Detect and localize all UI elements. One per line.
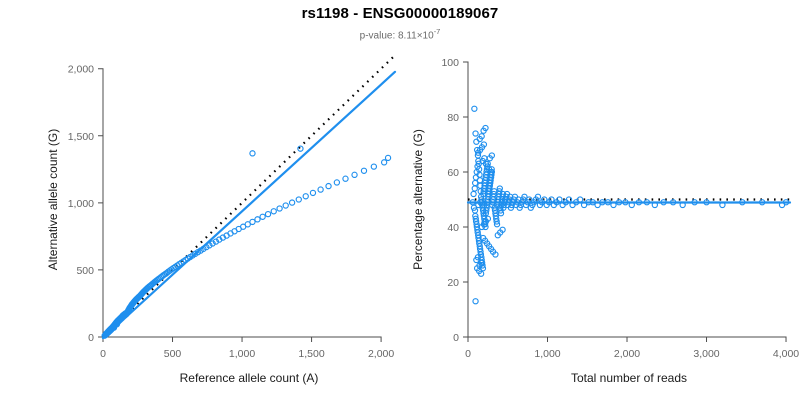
scatter-point xyxy=(471,191,476,196)
scatter-panel-percentage: 02040608010001,0002,0003,0004,000Total n… xyxy=(410,0,800,400)
scatter-point xyxy=(277,206,282,211)
x-tick-label: 1,500 xyxy=(298,348,324,360)
y-axis-line xyxy=(463,62,468,337)
x-tick-label: 0 xyxy=(100,348,106,360)
allele-count-scatter-svg: 05001,0001,5002,00005001,0001,5002,000Re… xyxy=(0,0,410,400)
x-tick-label: 1,000 xyxy=(534,348,560,360)
scatter-point xyxy=(326,183,331,188)
scatter-point xyxy=(473,131,478,136)
scatter-point xyxy=(260,214,265,219)
y-tick-label: 0 xyxy=(88,332,94,344)
scatter-point xyxy=(303,194,308,199)
scatter-point xyxy=(265,212,270,217)
y-tick-label: 0 xyxy=(453,332,459,344)
y-tick-label: 20 xyxy=(447,277,459,289)
scatter-point xyxy=(290,200,295,205)
x-tick-label: 1,000 xyxy=(229,348,255,360)
y-tick-label: 60 xyxy=(447,167,459,179)
scatter-point xyxy=(298,146,303,151)
x-tick-label: 3,000 xyxy=(693,348,719,360)
scatter-point xyxy=(472,186,477,191)
scatter-point xyxy=(477,178,482,183)
scatter-point xyxy=(334,180,339,185)
scatter-point xyxy=(343,176,348,181)
scatter-point xyxy=(271,209,276,214)
regression-fit-line xyxy=(103,72,395,338)
y-tick-label: 100 xyxy=(441,57,459,69)
percentage-scatter-svg: 02040608010001,0002,0003,0004,000Total n… xyxy=(410,0,800,400)
scatter-points xyxy=(102,146,391,338)
y-tick-label: 500 xyxy=(76,265,94,277)
scatter-point xyxy=(361,168,366,173)
x-tick-label: 2,000 xyxy=(614,348,640,360)
scatter-point xyxy=(318,187,323,192)
x-axis-line xyxy=(103,337,381,342)
x-tick-label: 0 xyxy=(465,348,471,360)
y-tick-label: 1,500 xyxy=(68,131,94,143)
y-axis-line xyxy=(98,69,103,337)
scatter-point xyxy=(382,160,387,165)
scatter-point xyxy=(472,106,477,111)
y-tick-label: 80 xyxy=(447,112,459,124)
x-axis-line xyxy=(468,337,786,342)
scatter-point xyxy=(296,197,301,202)
scatter-point xyxy=(250,151,255,156)
x-tick-label: 2,000 xyxy=(368,348,394,360)
scatter-point xyxy=(474,139,479,144)
y-tick-label: 2,000 xyxy=(68,64,94,76)
y-tick-label: 1,000 xyxy=(68,198,94,210)
y-axis-title: Alternative allele count (G) xyxy=(46,129,60,270)
scatter-point xyxy=(473,299,478,304)
x-axis-title: Total number of reads xyxy=(571,371,687,385)
scatter-panel-allele-counts: 05001,0001,5002,00005001,0001,5002,000Re… xyxy=(0,0,410,400)
x-tick-label: 4,000 xyxy=(773,348,799,360)
y-axis-title: Percentage alternative (G) xyxy=(411,129,425,270)
scatter-point xyxy=(250,219,255,224)
figure-container: rs1198 - ENSG00000189067 p-value: 8.11×1… xyxy=(0,0,800,400)
scatter-point xyxy=(371,164,376,169)
y-tick-label: 40 xyxy=(447,222,459,234)
scatter-point xyxy=(255,217,260,222)
scatter-point xyxy=(283,203,288,208)
identity-reference-line xyxy=(103,55,395,337)
scatter-point xyxy=(352,172,357,177)
scatter-point xyxy=(310,190,315,195)
x-axis-title: Reference allele count (A) xyxy=(180,371,319,385)
x-tick-label: 500 xyxy=(164,348,182,360)
scatter-points xyxy=(470,106,788,304)
scatter-point xyxy=(385,155,390,160)
